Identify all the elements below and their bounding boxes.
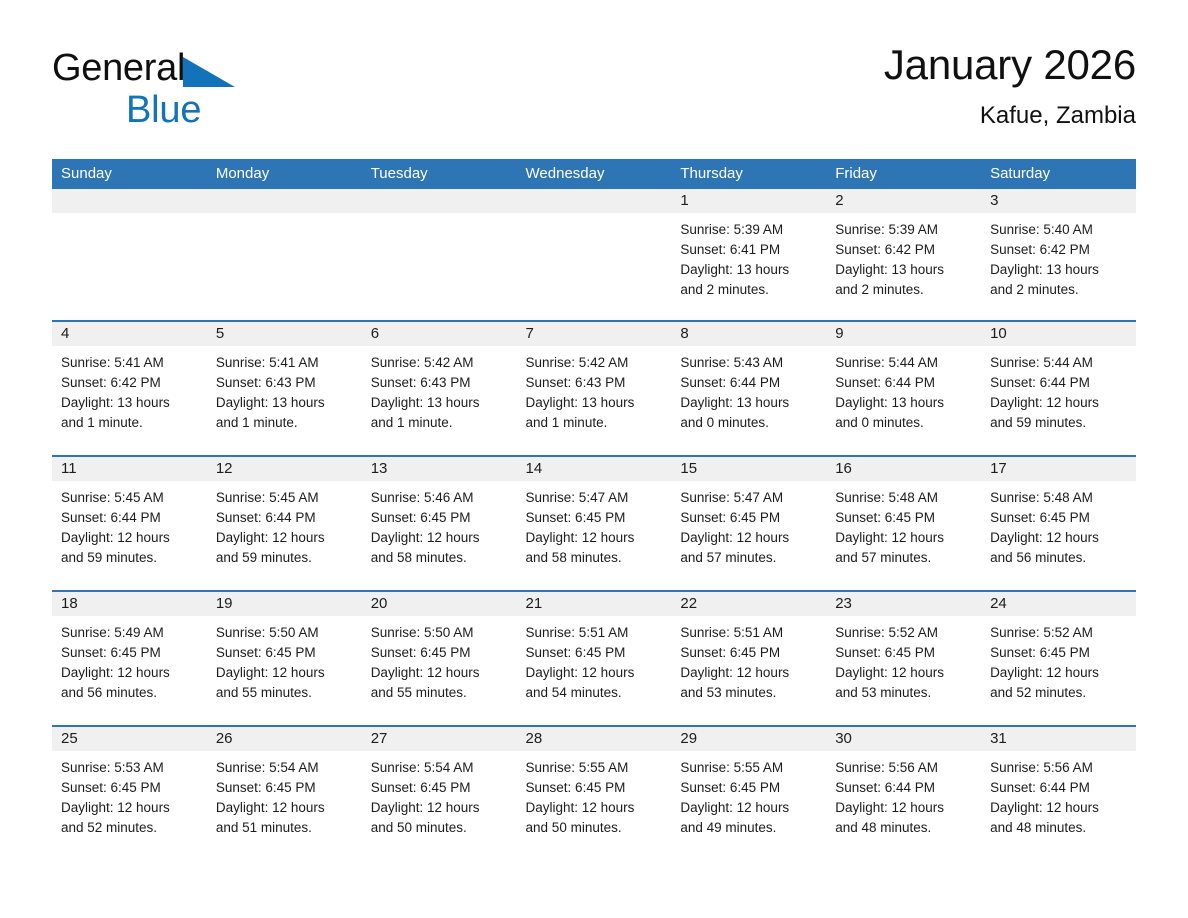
sunset-text: Sunset: 6:44 PM	[61, 508, 198, 528]
sunset-text: Sunset: 6:45 PM	[216, 643, 353, 663]
day-details: Sunrise: 5:53 AMSunset: 6:45 PMDaylight:…	[52, 751, 207, 838]
day-cell-inner: 8Sunrise: 5:43 AMSunset: 6:44 PMDaylight…	[671, 322, 826, 455]
sunset-text: Sunset: 6:45 PM	[835, 508, 972, 528]
sunset-text: Sunset: 6:44 PM	[216, 508, 353, 528]
day-details: Sunrise: 5:50 AMSunset: 6:45 PMDaylight:…	[207, 616, 362, 703]
daylight-text: Daylight: 13 hours and 0 minutes.	[680, 393, 805, 433]
weekday-header-saturday: Saturday	[981, 159, 1136, 189]
day-cell-inner: 22Sunrise: 5:51 AMSunset: 6:45 PMDayligh…	[671, 592, 826, 725]
day-details: Sunrise: 5:47 AMSunset: 6:45 PMDaylight:…	[671, 481, 826, 568]
day-details: Sunrise: 5:51 AMSunset: 6:45 PMDaylight:…	[517, 616, 672, 703]
sunrise-text: Sunrise: 5:55 AM	[526, 758, 663, 778]
sunrise-text: Sunrise: 5:50 AM	[216, 623, 353, 643]
day-cell-inner: 31Sunrise: 5:56 AMSunset: 6:44 PMDayligh…	[981, 727, 1136, 860]
day-details: Sunrise: 5:54 AMSunset: 6:45 PMDaylight:…	[207, 751, 362, 838]
calendar-head: Sunday Monday Tuesday Wednesday Thursday…	[52, 159, 1136, 189]
calendar-day-cell	[362, 189, 517, 321]
daylight-text: Daylight: 12 hours and 55 minutes.	[216, 663, 341, 703]
day-number: 16	[826, 457, 981, 481]
day-number: 19	[207, 592, 362, 616]
calendar-day-cell[interactable]: 30Sunrise: 5:56 AMSunset: 6:44 PMDayligh…	[826, 726, 981, 860]
sunrise-text: Sunrise: 5:51 AM	[526, 623, 663, 643]
day-details: Sunrise: 5:48 AMSunset: 6:45 PMDaylight:…	[826, 481, 981, 568]
day-cell-inner: 26Sunrise: 5:54 AMSunset: 6:45 PMDayligh…	[207, 727, 362, 860]
day-details: Sunrise: 5:55 AMSunset: 6:45 PMDaylight:…	[517, 751, 672, 838]
day-cell-inner: 12Sunrise: 5:45 AMSunset: 6:44 PMDayligh…	[207, 457, 362, 590]
sunset-text: Sunset: 6:45 PM	[526, 508, 663, 528]
general-blue-logo[interactable]: General Blue	[52, 48, 392, 128]
sunrise-text: Sunrise: 5:54 AM	[216, 758, 353, 778]
sunset-text: Sunset: 6:44 PM	[835, 373, 972, 393]
sunset-text: Sunset: 6:44 PM	[990, 373, 1127, 393]
daylight-text: Daylight: 12 hours and 50 minutes.	[526, 798, 651, 838]
daylight-text: Daylight: 12 hours and 58 minutes.	[371, 528, 496, 568]
calendar-week-row: 18Sunrise: 5:49 AMSunset: 6:45 PMDayligh…	[52, 591, 1136, 726]
sunset-text: Sunset: 6:45 PM	[61, 643, 198, 663]
daylight-text: Daylight: 12 hours and 57 minutes.	[835, 528, 960, 568]
calendar-day-cell[interactable]: 1Sunrise: 5:39 AMSunset: 6:41 PMDaylight…	[671, 189, 826, 321]
calendar-day-cell[interactable]: 20Sunrise: 5:50 AMSunset: 6:45 PMDayligh…	[362, 591, 517, 726]
sunrise-text: Sunrise: 5:53 AM	[61, 758, 198, 778]
daylight-text: Daylight: 12 hours and 48 minutes.	[990, 798, 1115, 838]
day-details: Sunrise: 5:49 AMSunset: 6:45 PMDaylight:…	[52, 616, 207, 703]
day-number: 10	[981, 322, 1136, 346]
day-number	[517, 189, 672, 213]
daylight-text: Daylight: 12 hours and 59 minutes.	[61, 528, 186, 568]
calendar-day-cell[interactable]: 13Sunrise: 5:46 AMSunset: 6:45 PMDayligh…	[362, 456, 517, 591]
calendar-day-cell[interactable]: 4Sunrise: 5:41 AMSunset: 6:42 PMDaylight…	[52, 321, 207, 456]
sunset-text: Sunset: 6:45 PM	[216, 778, 353, 798]
day-details: Sunrise: 5:44 AMSunset: 6:44 PMDaylight:…	[826, 346, 981, 433]
day-number: 1	[671, 189, 826, 213]
sunset-text: Sunset: 6:45 PM	[835, 643, 972, 663]
day-details: Sunrise: 5:54 AMSunset: 6:45 PMDaylight:…	[362, 751, 517, 838]
day-details: Sunrise: 5:42 AMSunset: 6:43 PMDaylight:…	[362, 346, 517, 433]
calendar-day-cell[interactable]: 19Sunrise: 5:50 AMSunset: 6:45 PMDayligh…	[207, 591, 362, 726]
sunrise-text: Sunrise: 5:48 AM	[835, 488, 972, 508]
day-cell-inner: 18Sunrise: 5:49 AMSunset: 6:45 PMDayligh…	[52, 592, 207, 725]
daylight-text: Daylight: 12 hours and 58 minutes.	[526, 528, 651, 568]
calendar-day-cell[interactable]: 2Sunrise: 5:39 AMSunset: 6:42 PMDaylight…	[826, 189, 981, 321]
logo-line-one: General	[52, 48, 392, 95]
sunrise-text: Sunrise: 5:47 AM	[526, 488, 663, 508]
calendar-week-row: 25Sunrise: 5:53 AMSunset: 6:45 PMDayligh…	[52, 726, 1136, 860]
day-details: Sunrise: 5:50 AMSunset: 6:45 PMDaylight:…	[362, 616, 517, 703]
calendar-day-cell[interactable]: 7Sunrise: 5:42 AMSunset: 6:43 PMDaylight…	[517, 321, 672, 456]
calendar-day-cell[interactable]: 5Sunrise: 5:41 AMSunset: 6:43 PMDaylight…	[207, 321, 362, 456]
sunrise-text: Sunrise: 5:44 AM	[990, 353, 1127, 373]
sunrise-text: Sunrise: 5:55 AM	[680, 758, 817, 778]
weekday-header-thursday: Thursday	[671, 159, 826, 189]
sunrise-text: Sunrise: 5:41 AM	[216, 353, 353, 373]
sunrise-sunset-calendar: Sunday Monday Tuesday Wednesday Thursday…	[52, 159, 1136, 860]
calendar-day-cell[interactable]: 9Sunrise: 5:44 AMSunset: 6:44 PMDaylight…	[826, 321, 981, 456]
day-number: 7	[517, 322, 672, 346]
sunrise-text: Sunrise: 5:39 AM	[835, 220, 972, 240]
calendar-day-cell[interactable]: 27Sunrise: 5:54 AMSunset: 6:45 PMDayligh…	[362, 726, 517, 860]
day-number: 29	[671, 727, 826, 751]
page-title: January 2026	[884, 40, 1136, 90]
day-details: Sunrise: 5:52 AMSunset: 6:45 PMDaylight:…	[981, 616, 1136, 703]
calendar-day-cell[interactable]: 16Sunrise: 5:48 AMSunset: 6:45 PMDayligh…	[826, 456, 981, 591]
sunset-text: Sunset: 6:45 PM	[680, 643, 817, 663]
day-cell-inner: 14Sunrise: 5:47 AMSunset: 6:45 PMDayligh…	[517, 457, 672, 590]
sunrise-text: Sunrise: 5:45 AM	[61, 488, 198, 508]
day-details: Sunrise: 5:46 AMSunset: 6:45 PMDaylight:…	[362, 481, 517, 568]
calendar-day-cell[interactable]: 28Sunrise: 5:55 AMSunset: 6:45 PMDayligh…	[517, 726, 672, 860]
sunset-text: Sunset: 6:45 PM	[990, 508, 1127, 528]
sunset-text: Sunset: 6:45 PM	[680, 778, 817, 798]
day-number: 13	[362, 457, 517, 481]
calendar-day-cell[interactable]: 15Sunrise: 5:47 AMSunset: 6:45 PMDayligh…	[671, 456, 826, 591]
weekday-header-friday: Friday	[826, 159, 981, 189]
logo-triangle-icon	[183, 55, 235, 95]
day-cell-inner: 21Sunrise: 5:51 AMSunset: 6:45 PMDayligh…	[517, 592, 672, 725]
day-details: Sunrise: 5:56 AMSunset: 6:44 PMDaylight:…	[826, 751, 981, 838]
day-number: 11	[52, 457, 207, 481]
day-cell-inner: 11Sunrise: 5:45 AMSunset: 6:44 PMDayligh…	[52, 457, 207, 590]
sunset-text: Sunset: 6:43 PM	[216, 373, 353, 393]
daylight-text: Daylight: 12 hours and 50 minutes.	[371, 798, 496, 838]
calendar-day-cell[interactable]: 24Sunrise: 5:52 AMSunset: 6:45 PMDayligh…	[981, 591, 1136, 726]
daylight-text: Daylight: 13 hours and 0 minutes.	[835, 393, 960, 433]
day-cell-inner: 7Sunrise: 5:42 AMSunset: 6:43 PMDaylight…	[517, 322, 672, 455]
logo-word-blue: Blue	[126, 91, 392, 129]
sunset-text: Sunset: 6:45 PM	[61, 778, 198, 798]
daylight-text: Daylight: 12 hours and 57 minutes.	[680, 528, 805, 568]
day-number: 17	[981, 457, 1136, 481]
day-cell-inner	[362, 189, 517, 320]
day-cell-inner: 9Sunrise: 5:44 AMSunset: 6:44 PMDaylight…	[826, 322, 981, 455]
day-number: 6	[362, 322, 517, 346]
title-block: January 2026 Kafue, Zambia	[884, 40, 1136, 132]
sunrise-text: Sunrise: 5:56 AM	[990, 758, 1127, 778]
sunrise-text: Sunrise: 5:48 AM	[990, 488, 1127, 508]
day-details: Sunrise: 5:40 AMSunset: 6:42 PMDaylight:…	[981, 213, 1136, 300]
sunset-text: Sunset: 6:42 PM	[61, 373, 198, 393]
calendar-day-cell[interactable]: 31Sunrise: 5:56 AMSunset: 6:44 PMDayligh…	[981, 726, 1136, 860]
sunset-text: Sunset: 6:45 PM	[371, 643, 508, 663]
daylight-text: Daylight: 13 hours and 1 minute.	[216, 393, 341, 433]
weekday-header-wednesday: Wednesday	[517, 159, 672, 189]
day-number	[207, 189, 362, 213]
sunset-text: Sunset: 6:42 PM	[835, 240, 972, 260]
day-number: 25	[52, 727, 207, 751]
sunrise-text: Sunrise: 5:51 AM	[680, 623, 817, 643]
day-cell-inner	[517, 189, 672, 320]
day-details: Sunrise: 5:45 AMSunset: 6:44 PMDaylight:…	[52, 481, 207, 568]
calendar-week-row: 11Sunrise: 5:45 AMSunset: 6:44 PMDayligh…	[52, 456, 1136, 591]
sunset-text: Sunset: 6:45 PM	[526, 778, 663, 798]
sunrise-text: Sunrise: 5:39 AM	[680, 220, 817, 240]
day-number: 20	[362, 592, 517, 616]
day-number: 4	[52, 322, 207, 346]
day-cell-inner: 2Sunrise: 5:39 AMSunset: 6:42 PMDaylight…	[826, 189, 981, 320]
calendar-day-cell[interactable]: 3Sunrise: 5:40 AMSunset: 6:42 PMDaylight…	[981, 189, 1136, 321]
sunset-text: Sunset: 6:45 PM	[680, 508, 817, 528]
day-details: Sunrise: 5:44 AMSunset: 6:44 PMDaylight:…	[981, 346, 1136, 433]
sunset-text: Sunset: 6:42 PM	[990, 240, 1127, 260]
sunrise-text: Sunrise: 5:52 AM	[835, 623, 972, 643]
day-details: Sunrise: 5:39 AMSunset: 6:42 PMDaylight:…	[826, 213, 981, 300]
day-number: 15	[671, 457, 826, 481]
daylight-text: Daylight: 13 hours and 2 minutes.	[680, 260, 805, 300]
sunrise-text: Sunrise: 5:54 AM	[371, 758, 508, 778]
daylight-text: Daylight: 13 hours and 1 minute.	[526, 393, 651, 433]
day-number: 28	[517, 727, 672, 751]
sunset-text: Sunset: 6:45 PM	[990, 643, 1127, 663]
calendar-day-cell[interactable]: 25Sunrise: 5:53 AMSunset: 6:45 PMDayligh…	[52, 726, 207, 860]
day-number: 24	[981, 592, 1136, 616]
sunrise-text: Sunrise: 5:56 AM	[835, 758, 972, 778]
day-number: 21	[517, 592, 672, 616]
calendar-day-cell[interactable]: 18Sunrise: 5:49 AMSunset: 6:45 PMDayligh…	[52, 591, 207, 726]
weekday-header-tuesday: Tuesday	[362, 159, 517, 189]
sunrise-text: Sunrise: 5:47 AM	[680, 488, 817, 508]
day-cell-inner: 10Sunrise: 5:44 AMSunset: 6:44 PMDayligh…	[981, 322, 1136, 455]
day-details: Sunrise: 5:55 AMSunset: 6:45 PMDaylight:…	[671, 751, 826, 838]
day-cell-inner: 1Sunrise: 5:39 AMSunset: 6:41 PMDaylight…	[671, 189, 826, 320]
day-cell-inner: 15Sunrise: 5:47 AMSunset: 6:45 PMDayligh…	[671, 457, 826, 590]
day-number	[52, 189, 207, 213]
day-number: 8	[671, 322, 826, 346]
calendar-day-cell[interactable]: 14Sunrise: 5:47 AMSunset: 6:45 PMDayligh…	[517, 456, 672, 591]
calendar-day-cell	[517, 189, 672, 321]
day-cell-inner	[52, 189, 207, 320]
sunrise-text: Sunrise: 5:45 AM	[216, 488, 353, 508]
day-number: 5	[207, 322, 362, 346]
day-cell-inner: 17Sunrise: 5:48 AMSunset: 6:45 PMDayligh…	[981, 457, 1136, 590]
daylight-text: Daylight: 12 hours and 52 minutes.	[61, 798, 186, 838]
day-cell-inner: 19Sunrise: 5:50 AMSunset: 6:45 PMDayligh…	[207, 592, 362, 725]
calendar-day-cell	[52, 189, 207, 321]
daylight-text: Daylight: 12 hours and 59 minutes.	[990, 393, 1115, 433]
day-details: Sunrise: 5:43 AMSunset: 6:44 PMDaylight:…	[671, 346, 826, 433]
daylight-text: Daylight: 12 hours and 52 minutes.	[990, 663, 1115, 703]
sunset-text: Sunset: 6:45 PM	[371, 778, 508, 798]
calendar-day-cell[interactable]: 11Sunrise: 5:45 AMSunset: 6:44 PMDayligh…	[52, 456, 207, 591]
page-header: General Blue January 2026 Kafue, Zambia	[52, 40, 1136, 148]
daylight-text: Daylight: 13 hours and 2 minutes.	[835, 260, 960, 300]
day-cell-inner: 24Sunrise: 5:52 AMSunset: 6:45 PMDayligh…	[981, 592, 1136, 725]
sunset-text: Sunset: 6:43 PM	[526, 373, 663, 393]
day-number: 18	[52, 592, 207, 616]
sunrise-text: Sunrise: 5:50 AM	[371, 623, 508, 643]
calendar-day-cell[interactable]: 17Sunrise: 5:48 AMSunset: 6:45 PMDayligh…	[981, 456, 1136, 591]
day-number: 26	[207, 727, 362, 751]
day-cell-inner: 13Sunrise: 5:46 AMSunset: 6:45 PMDayligh…	[362, 457, 517, 590]
day-cell-inner: 27Sunrise: 5:54 AMSunset: 6:45 PMDayligh…	[362, 727, 517, 860]
calendar-day-cell[interactable]: 21Sunrise: 5:51 AMSunset: 6:45 PMDayligh…	[517, 591, 672, 726]
day-cell-inner: 5Sunrise: 5:41 AMSunset: 6:43 PMDaylight…	[207, 322, 362, 455]
day-number: 22	[671, 592, 826, 616]
sunrise-text: Sunrise: 5:46 AM	[371, 488, 508, 508]
sunrise-text: Sunrise: 5:41 AM	[61, 353, 198, 373]
calendar-day-cell[interactable]: 29Sunrise: 5:55 AMSunset: 6:45 PMDayligh…	[671, 726, 826, 860]
day-number	[362, 189, 517, 213]
day-details: Sunrise: 5:39 AMSunset: 6:41 PMDaylight:…	[671, 213, 826, 300]
sunrise-text: Sunrise: 5:42 AM	[371, 353, 508, 373]
day-details: Sunrise: 5:56 AMSunset: 6:44 PMDaylight:…	[981, 751, 1136, 838]
day-details: Sunrise: 5:51 AMSunset: 6:45 PMDaylight:…	[671, 616, 826, 703]
daylight-text: Daylight: 12 hours and 53 minutes.	[835, 663, 960, 703]
calendar-body: 1Sunrise: 5:39 AMSunset: 6:41 PMDaylight…	[52, 189, 1136, 860]
day-number: 30	[826, 727, 981, 751]
day-number: 27	[362, 727, 517, 751]
day-number: 3	[981, 189, 1136, 213]
sunset-text: Sunset: 6:45 PM	[371, 508, 508, 528]
daylight-text: Daylight: 12 hours and 51 minutes.	[216, 798, 341, 838]
day-details: Sunrise: 5:52 AMSunset: 6:45 PMDaylight:…	[826, 616, 981, 703]
daylight-text: Daylight: 13 hours and 1 minute.	[371, 393, 496, 433]
sunrise-text: Sunrise: 5:42 AM	[526, 353, 663, 373]
sunset-text: Sunset: 6:44 PM	[835, 778, 972, 798]
day-details: Sunrise: 5:48 AMSunset: 6:45 PMDaylight:…	[981, 481, 1136, 568]
sunrise-text: Sunrise: 5:52 AM	[990, 623, 1127, 643]
daylight-text: Daylight: 12 hours and 54 minutes.	[526, 663, 651, 703]
calendar-page: General Blue January 2026 Kafue, Zambia …	[0, 0, 1188, 918]
weekday-header-monday: Monday	[207, 159, 362, 189]
day-cell-inner: 20Sunrise: 5:50 AMSunset: 6:45 PMDayligh…	[362, 592, 517, 725]
calendar-day-cell[interactable]: 6Sunrise: 5:42 AMSunset: 6:43 PMDaylight…	[362, 321, 517, 456]
daylight-text: Daylight: 12 hours and 48 minutes.	[835, 798, 960, 838]
day-details: Sunrise: 5:41 AMSunset: 6:43 PMDaylight:…	[207, 346, 362, 433]
day-details: Sunrise: 5:47 AMSunset: 6:45 PMDaylight:…	[517, 481, 672, 568]
sunset-text: Sunset: 6:45 PM	[526, 643, 663, 663]
calendar-day-cell[interactable]: 26Sunrise: 5:54 AMSunset: 6:45 PMDayligh…	[207, 726, 362, 860]
day-number: 12	[207, 457, 362, 481]
daylight-text: Daylight: 12 hours and 49 minutes.	[680, 798, 805, 838]
daylight-text: Daylight: 12 hours and 56 minutes.	[61, 663, 186, 703]
day-details: Sunrise: 5:42 AMSunset: 6:43 PMDaylight:…	[517, 346, 672, 433]
calendar-day-cell	[207, 189, 362, 321]
calendar-day-cell[interactable]: 12Sunrise: 5:45 AMSunset: 6:44 PMDayligh…	[207, 456, 362, 591]
day-cell-inner: 28Sunrise: 5:55 AMSunset: 6:45 PMDayligh…	[517, 727, 672, 860]
sunrise-text: Sunrise: 5:49 AM	[61, 623, 198, 643]
sunset-text: Sunset: 6:44 PM	[680, 373, 817, 393]
day-number: 31	[981, 727, 1136, 751]
calendar-week-row: 1Sunrise: 5:39 AMSunset: 6:41 PMDaylight…	[52, 189, 1136, 321]
day-number: 2	[826, 189, 981, 213]
day-details: Sunrise: 5:45 AMSunset: 6:44 PMDaylight:…	[207, 481, 362, 568]
calendar-day-cell[interactable]: 23Sunrise: 5:52 AMSunset: 6:45 PMDayligh…	[826, 591, 981, 726]
day-cell-inner	[207, 189, 362, 320]
day-cell-inner: 3Sunrise: 5:40 AMSunset: 6:42 PMDaylight…	[981, 189, 1136, 320]
calendar-day-cell[interactable]: 8Sunrise: 5:43 AMSunset: 6:44 PMDaylight…	[671, 321, 826, 456]
weekday-header-sunday: Sunday	[52, 159, 207, 189]
calendar-day-cell[interactable]: 10Sunrise: 5:44 AMSunset: 6:44 PMDayligh…	[981, 321, 1136, 456]
day-cell-inner: 25Sunrise: 5:53 AMSunset: 6:45 PMDayligh…	[52, 727, 207, 860]
day-cell-inner: 30Sunrise: 5:56 AMSunset: 6:44 PMDayligh…	[826, 727, 981, 860]
daylight-text: Daylight: 12 hours and 56 minutes.	[990, 528, 1115, 568]
sunrise-text: Sunrise: 5:43 AM	[680, 353, 817, 373]
sunrise-text: Sunrise: 5:40 AM	[990, 220, 1127, 240]
day-cell-inner: 4Sunrise: 5:41 AMSunset: 6:42 PMDaylight…	[52, 322, 207, 455]
day-details: Sunrise: 5:41 AMSunset: 6:42 PMDaylight:…	[52, 346, 207, 433]
weekday-header-row: Sunday Monday Tuesday Wednesday Thursday…	[52, 159, 1136, 189]
day-cell-inner: 29Sunrise: 5:55 AMSunset: 6:45 PMDayligh…	[671, 727, 826, 860]
sunrise-text: Sunrise: 5:44 AM	[835, 353, 972, 373]
daylight-text: Daylight: 12 hours and 55 minutes.	[371, 663, 496, 703]
sunset-text: Sunset: 6:43 PM	[371, 373, 508, 393]
location-subtitle: Kafue, Zambia	[884, 100, 1136, 132]
daylight-text: Daylight: 12 hours and 53 minutes.	[680, 663, 805, 703]
sunset-text: Sunset: 6:41 PM	[680, 240, 817, 260]
day-cell-inner: 23Sunrise: 5:52 AMSunset: 6:45 PMDayligh…	[826, 592, 981, 725]
day-number: 14	[517, 457, 672, 481]
day-number: 9	[826, 322, 981, 346]
daylight-text: Daylight: 13 hours and 2 minutes.	[990, 260, 1115, 300]
day-cell-inner: 16Sunrise: 5:48 AMSunset: 6:45 PMDayligh…	[826, 457, 981, 590]
daylight-text: Daylight: 12 hours and 59 minutes.	[216, 528, 341, 568]
day-number: 23	[826, 592, 981, 616]
day-cell-inner: 6Sunrise: 5:42 AMSunset: 6:43 PMDaylight…	[362, 322, 517, 455]
logo-word-general: General	[52, 48, 185, 88]
calendar-day-cell[interactable]: 22Sunrise: 5:51 AMSunset: 6:45 PMDayligh…	[671, 591, 826, 726]
calendar-week-row: 4Sunrise: 5:41 AMSunset: 6:42 PMDaylight…	[52, 321, 1136, 456]
sunset-text: Sunset: 6:44 PM	[990, 778, 1127, 798]
daylight-text: Daylight: 13 hours and 1 minute.	[61, 393, 186, 433]
